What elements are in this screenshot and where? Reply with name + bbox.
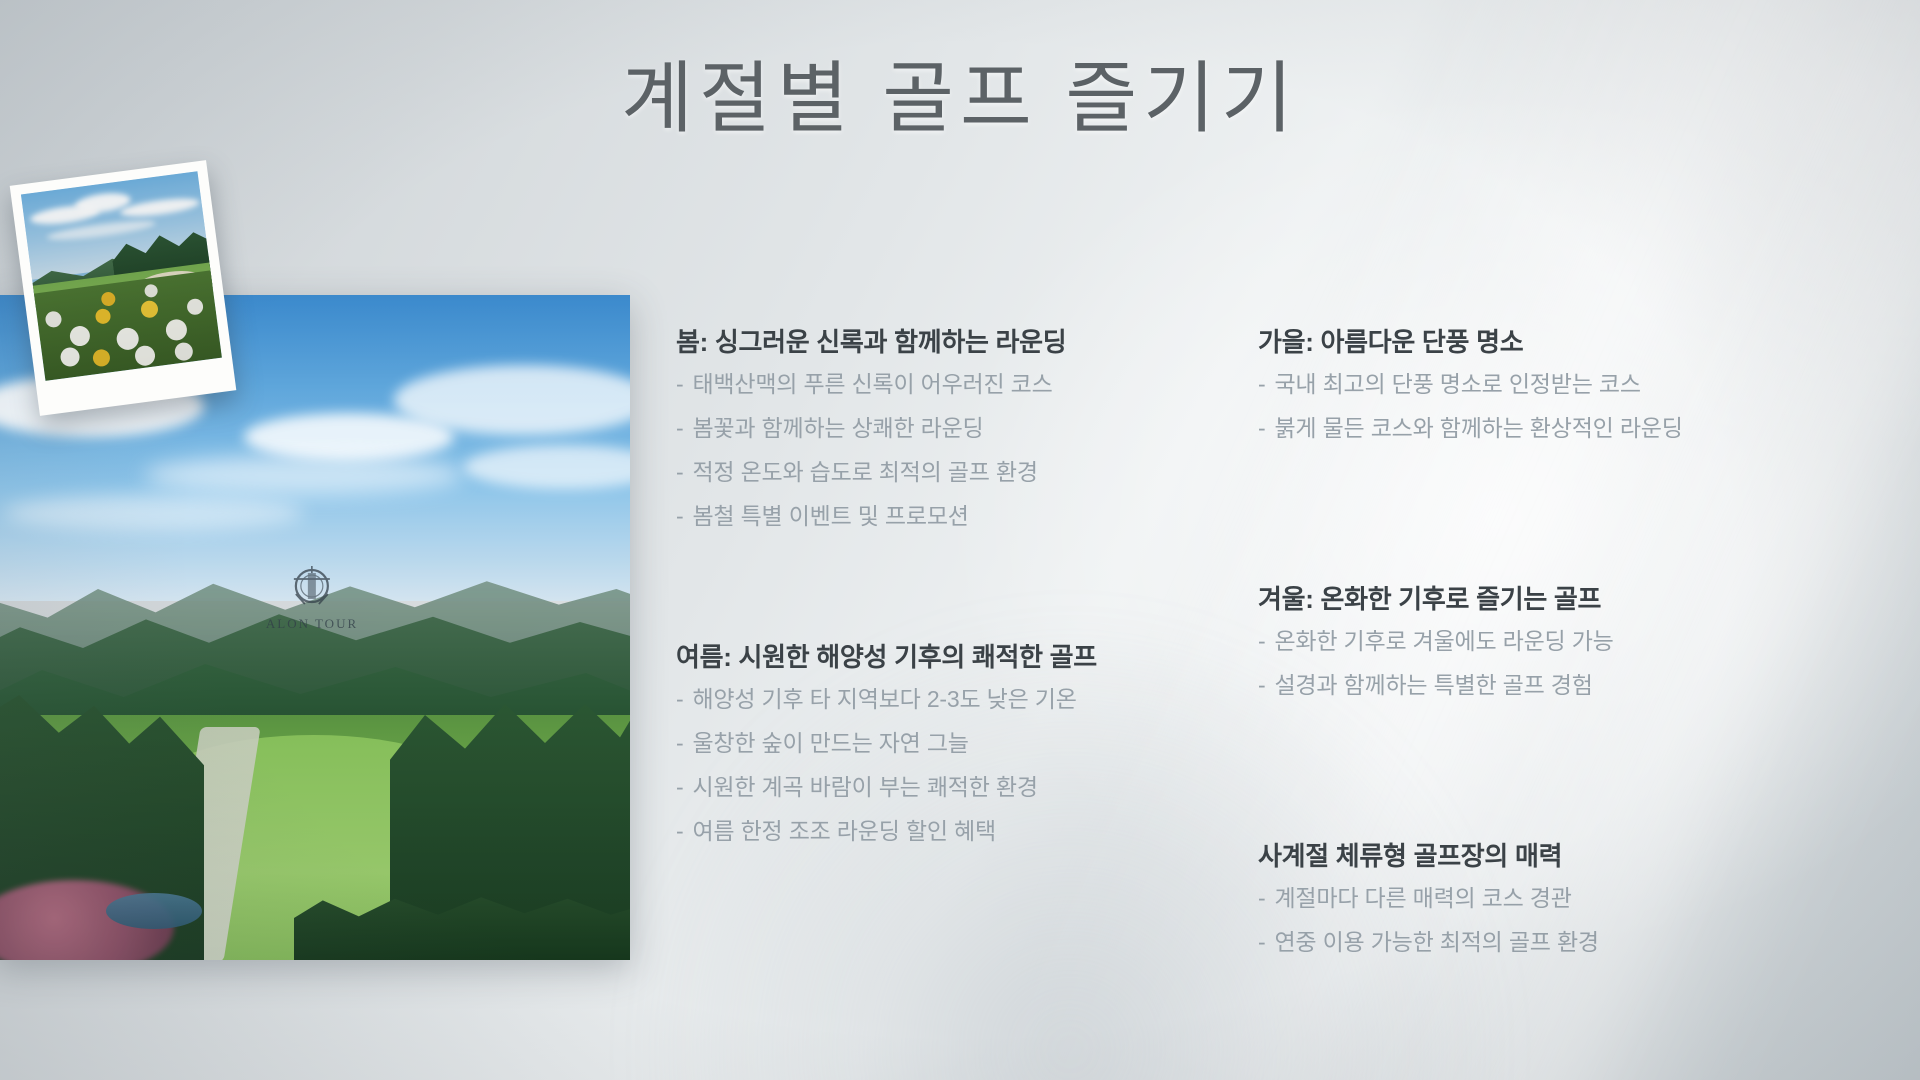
season-heading-summer: 여름: 시원한 해양성 기후의 쾌적한 골프 bbox=[676, 637, 1236, 674]
content-column-left: 봄: 싱그러운 신록과 함께하는 라운딩 -태백산맥의 푸른 신록이 어우러진 … bbox=[676, 322, 1236, 864]
season-heading-year-round: 사계절 체류형 골프장의 매력 bbox=[1258, 836, 1858, 873]
list-item: -봄꽃과 함께하는 상쾌한 라운딩 bbox=[676, 417, 1236, 440]
watermark: ALON TOUR bbox=[266, 560, 358, 632]
list-item: -국내 최고의 단풍 명소로 인정받는 코스 bbox=[1258, 373, 1858, 396]
bullet-dash: - bbox=[676, 818, 683, 844]
list-item-text: 시원한 계곡 바람이 부는 쾌적한 환경 bbox=[692, 774, 1037, 800]
season-bullet-list-year-round: -계절마다 다른 매력의 코스 경관 -연중 이용 가능한 최적의 골프 환경 bbox=[1258, 887, 1858, 954]
bullet-dash: - bbox=[676, 371, 683, 397]
season-block-spring: 봄: 싱그러운 신록과 함께하는 라운딩 -태백산맥의 푸른 신록이 어우러진 … bbox=[676, 322, 1236, 528]
list-item: -시원한 계곡 바람이 부는 쾌적한 환경 bbox=[676, 776, 1236, 799]
bullet-dash: - bbox=[676, 686, 683, 712]
list-item-text: 연중 이용 가능한 최적의 골프 환경 bbox=[1274, 929, 1598, 955]
list-item-text: 태백산맥의 푸른 신록이 어우러진 코스 bbox=[692, 371, 1052, 397]
list-item-text: 울창한 숲이 만드는 자연 그늘 bbox=[692, 730, 968, 756]
list-item: -설경과 함께하는 특별한 골프 경험 bbox=[1258, 674, 1858, 697]
list-item: -붉게 물든 코스와 함께하는 환상적인 라운딩 bbox=[1258, 417, 1858, 440]
bullet-dash: - bbox=[1258, 371, 1265, 397]
bullet-dash: - bbox=[676, 415, 683, 441]
column-spacer bbox=[676, 549, 1236, 637]
cloud-shape bbox=[4, 495, 304, 531]
page-title: 계절별 골프 즐기기 bbox=[0, 36, 1920, 148]
season-block-autumn: 가을: 아름다운 단풍 명소 -국내 최고의 단풍 명소로 인정받는 코스 -붉… bbox=[1258, 322, 1858, 440]
list-item: -여름 한정 조조 라운딩 할인 혜택 bbox=[676, 820, 1236, 843]
list-item-text: 설경과 함께하는 특별한 골프 경험 bbox=[1274, 672, 1592, 698]
list-item: -적정 온도와 습도로 최적의 골프 환경 bbox=[676, 461, 1236, 484]
list-item-text: 봄꽃과 함께하는 상쾌한 라운딩 bbox=[692, 415, 983, 441]
list-item: -계절마다 다른 매력의 코스 경관 bbox=[1258, 887, 1858, 910]
list-item-text: 온화한 기후로 겨울에도 라운딩 가능 bbox=[1274, 628, 1613, 654]
presentation-slide: 계절별 골프 즐기기 bbox=[0, 0, 1920, 1080]
season-bullet-list-autumn: -국내 최고의 단풍 명소로 인정받는 코스 -붉게 물든 코스와 함께하는 환… bbox=[1258, 373, 1858, 440]
bullet-dash: - bbox=[1258, 415, 1265, 441]
season-heading-winter: 겨울: 온화한 기후로 즐기는 골프 bbox=[1258, 579, 1858, 616]
season-bullet-list-winter: -온화한 기후로 겨울에도 라운딩 가능 -설경과 함께하는 특별한 골프 경험 bbox=[1258, 630, 1858, 697]
golf-club-crest-icon bbox=[285, 560, 339, 614]
content-column-right: 가을: 아름다운 단풍 명소 -국내 최고의 단풍 명소로 인정받는 코스 -붉… bbox=[1258, 322, 1858, 975]
bullet-dash: - bbox=[676, 730, 683, 756]
column-spacer bbox=[1258, 461, 1858, 579]
list-item: -봄철 특별 이벤트 및 프로모션 bbox=[676, 505, 1236, 528]
cloud-shape bbox=[144, 455, 464, 495]
season-bullet-list-spring: -태백산맥의 푸른 신록이 어우러진 코스 -봄꽃과 함께하는 상쾌한 라운딩 … bbox=[676, 373, 1236, 528]
polaroid-photo-frame bbox=[10, 160, 237, 416]
bullet-dash: - bbox=[1258, 628, 1265, 654]
bullet-dash: - bbox=[1258, 929, 1265, 955]
column-spacer bbox=[1258, 718, 1858, 836]
season-heading-autumn: 가을: 아름다운 단풍 명소 bbox=[1258, 322, 1858, 359]
list-item-text: 해양성 기후 타 지역보다 2-3도 낮은 기온 bbox=[692, 686, 1076, 712]
season-heading-spring: 봄: 싱그러운 신록과 함께하는 라운딩 bbox=[676, 322, 1236, 359]
list-item-text: 적정 온도와 습도로 최적의 골프 환경 bbox=[692, 459, 1037, 485]
polaroid-photo-image bbox=[21, 171, 222, 381]
season-block-winter: 겨울: 온화한 기후로 즐기는 골프 -온화한 기후로 겨울에도 라운딩 가능 … bbox=[1258, 579, 1858, 697]
list-item: -해양성 기후 타 지역보다 2-3도 낮은 기온 bbox=[676, 688, 1236, 711]
list-item-text: 봄철 특별 이벤트 및 프로모션 bbox=[692, 503, 968, 529]
bullet-dash: - bbox=[676, 503, 683, 529]
polaroid-overlay bbox=[21, 171, 222, 381]
bullet-dash: - bbox=[1258, 672, 1265, 698]
list-item: -연중 이용 가능한 최적의 골프 환경 bbox=[1258, 931, 1858, 954]
bullet-dash: - bbox=[676, 774, 683, 800]
watermark-brand: ALON TOUR bbox=[266, 616, 358, 632]
season-block-year-round: 사계절 체류형 골프장의 매력 -계절마다 다른 매력의 코스 경관 -연중 이… bbox=[1258, 836, 1858, 954]
list-item-text: 붉게 물든 코스와 함께하는 환상적인 라운딩 bbox=[1274, 415, 1682, 441]
list-item-text: 계절마다 다른 매력의 코스 경관 bbox=[1274, 885, 1571, 911]
bullet-dash: - bbox=[676, 459, 683, 485]
list-item: -온화한 기후로 겨울에도 라운딩 가능 bbox=[1258, 630, 1858, 653]
season-bullet-list-summer: -해양성 기후 타 지역보다 2-3도 낮은 기온 -울창한 숲이 만드는 자연… bbox=[676, 688, 1236, 843]
bullet-dash: - bbox=[1258, 885, 1265, 911]
list-item-text: 여름 한정 조조 라운딩 할인 혜택 bbox=[692, 818, 995, 844]
list-item: -울창한 숲이 만드는 자연 그늘 bbox=[676, 732, 1236, 755]
season-block-summer: 여름: 시원한 해양성 기후의 쾌적한 골프 -해양성 기후 타 지역보다 2-… bbox=[676, 637, 1236, 843]
list-item-text: 국내 최고의 단풍 명소로 인정받는 코스 bbox=[1274, 371, 1640, 397]
list-item: -태백산맥의 푸른 신록이 어우러진 코스 bbox=[676, 373, 1236, 396]
water-hazard bbox=[106, 893, 202, 929]
